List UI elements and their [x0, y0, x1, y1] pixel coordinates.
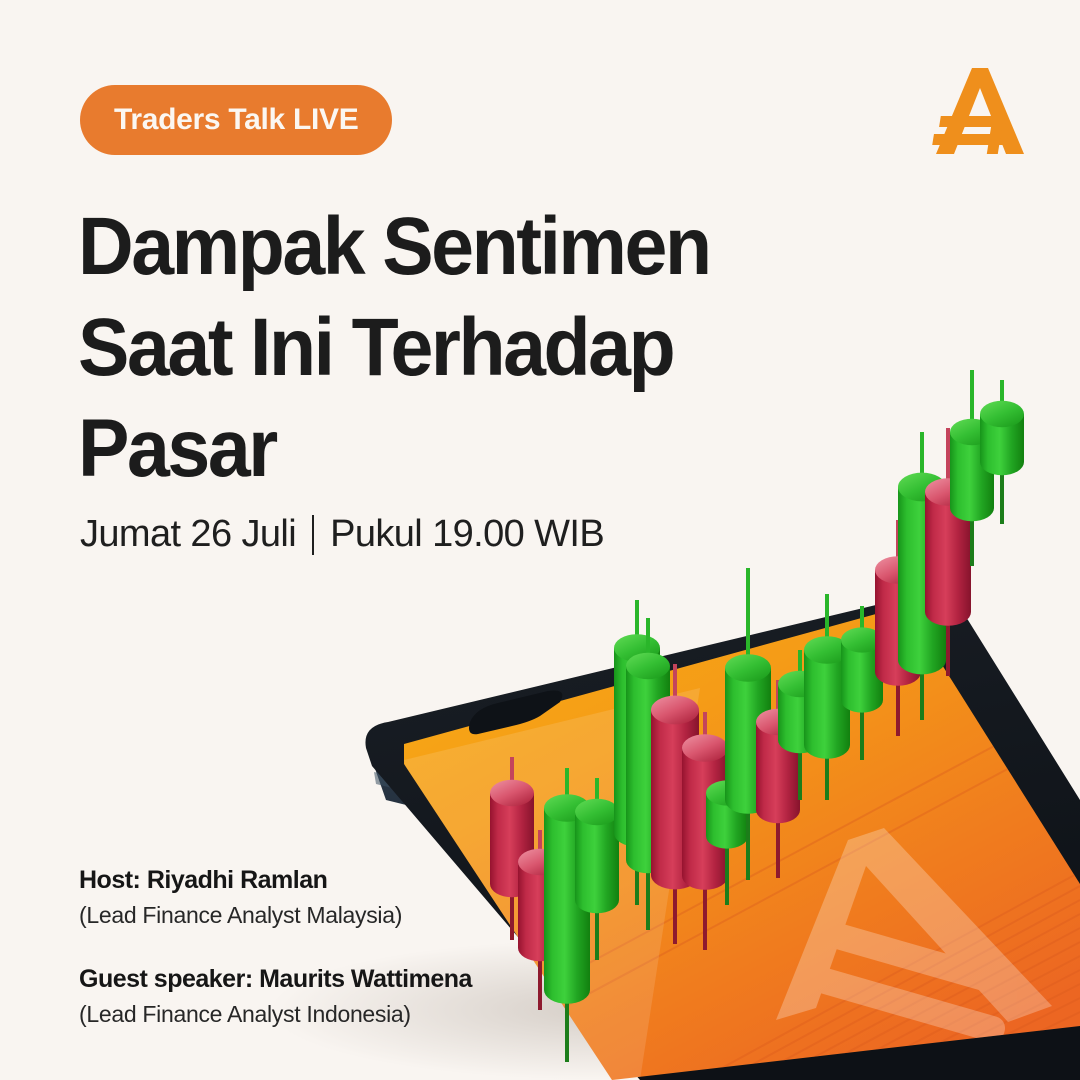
- host-name: Host: Riyadhi Ramlan: [79, 866, 472, 895]
- candle-cap: [490, 780, 534, 806]
- candle-cap: [626, 653, 670, 679]
- candle-cap: [651, 696, 699, 725]
- guest-block: Guest speaker: Maurits Wattimena (Lead F…: [79, 965, 472, 1028]
- host-role: (Lead Finance Analyst Malaysia): [79, 902, 472, 929]
- candle-cap: [980, 401, 1024, 427]
- speaker-list: Host: Riyadhi Ramlan (Lead Finance Analy…: [79, 866, 472, 1028]
- guest-role: (Lead Finance Analyst Indonesia): [79, 1001, 472, 1028]
- candle-cap: [575, 799, 619, 825]
- poster-canvas: Traders Talk LIVE Dampak Sentimen Saat I…: [0, 0, 1080, 1080]
- guest-name: Guest speaker: Maurits Wattimena: [79, 965, 472, 994]
- candle-cap: [725, 654, 771, 682]
- host-block: Host: Riyadhi Ramlan (Lead Finance Analy…: [79, 866, 472, 929]
- candle-cap: [682, 734, 728, 762]
- candle-body: [575, 812, 619, 913]
